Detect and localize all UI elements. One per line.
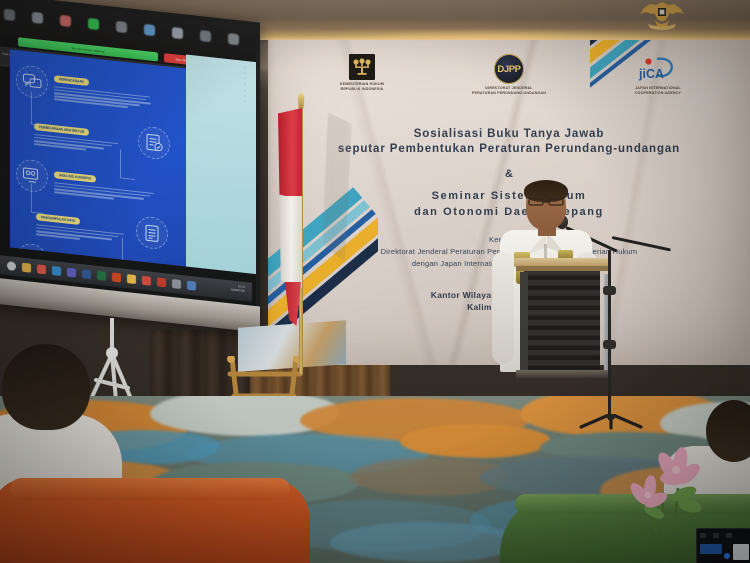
tablet-top-row — [700, 533, 732, 538]
tablet-device[interactable] — [696, 528, 750, 563]
edge-icon[interactable] — [52, 266, 61, 276]
reactions-icon[interactable] — [116, 21, 127, 33]
tablet-content-panel — [700, 544, 722, 554]
projected-desktop: You are screen sharing Stop Share Your m… — [0, 0, 256, 306]
speaker-left-arm — [492, 252, 514, 364]
projection-screen: You are screen sharing Stop Share Your m… — [0, 0, 260, 333]
search-icon[interactable] — [7, 261, 16, 271]
notes-icon[interactable] — [200, 30, 211, 42]
chrome-icon[interactable] — [37, 264, 46, 274]
tablet-app-icon-a[interactable] — [700, 533, 706, 538]
logo-jica: jiCA JAPAN INTERNATIONAL COOPERATION AGE… — [598, 56, 718, 96]
taskbar-clock[interactable]: 10:14 18/06/2025 — [231, 284, 245, 293]
participants-icon[interactable] — [4, 9, 15, 21]
logo-kemenkum-caption: KEMENTERIAN HUKUM REPUBLIK INDONESIA — [302, 82, 422, 92]
djpp-mark: DJPP — [494, 54, 524, 84]
speaker-eyeglasses — [528, 198, 564, 206]
jica-mark: jiCA — [635, 56, 681, 84]
more-icon[interactable] — [228, 33, 239, 45]
logo-kemenkum: KEMENTERIAN HUKUM REPUBLIK INDONESIA — [302, 54, 422, 92]
tablet-white-panel — [733, 544, 749, 560]
excel-icon[interactable] — [97, 271, 106, 281]
podium-top-edge — [516, 266, 608, 271]
microphone-tripod-base — [578, 414, 644, 430]
pink-lily-arrangement — [604, 432, 708, 536]
presentation-slide: PERENCANAAN PEMBICARAAN ARSITEKTUR — [10, 49, 186, 266]
slide-step-3-body — [54, 182, 158, 204]
whiteboard-icon[interactable] — [144, 24, 155, 36]
tablet-app-icon-c[interactable] — [726, 533, 732, 538]
tablet-app-icon-b[interactable] — [713, 533, 719, 538]
slide-step-1-label: PERENCANAAN — [54, 75, 89, 86]
audience-person-left-head — [2, 344, 90, 430]
slide-step-4-label: PENGUMPULAN DATA — [36, 213, 80, 225]
folder-icon[interactable] — [127, 274, 136, 284]
banner-logo-row: KEMENTERIAN HUKUM REPUBLIK INDONESIA DJP… — [268, 54, 750, 114]
list-document-icon — [136, 215, 168, 250]
slide-connector-2 — [120, 149, 135, 180]
indonesian-flag-red-band — [278, 108, 302, 200]
tablet-status-dot — [724, 553, 730, 559]
podium-front-panel — [524, 270, 600, 376]
garuda-pancasila-emblem — [630, 0, 694, 34]
podium — [520, 258, 604, 376]
slide-right-scroll-column: ▪▪▪▪▪▪▪ — [237, 64, 253, 266]
logo-jica-caption: JAPAN INTERNATIONAL COOPERATION AGENCY — [598, 86, 718, 96]
teams-icon[interactable] — [67, 268, 76, 278]
orange-armchair-backrest — [10, 478, 290, 500]
indonesian-flag-white-band — [278, 196, 302, 288]
slide-connector-4 — [122, 238, 135, 264]
document-check-icon — [138, 125, 170, 160]
media-icon[interactable] — [157, 277, 166, 287]
slide-step-1-body — [54, 86, 154, 111]
microphone-stand-clamp-lower — [603, 340, 616, 349]
file-explorer-icon[interactable] — [22, 263, 31, 273]
photo-scene: KEMENTERIAN HUKUM REPUBLIK INDONESIA DJP… — [0, 0, 750, 563]
settings-icon[interactable] — [172, 279, 181, 289]
podium-side-panel — [520, 272, 528, 376]
zoom-icon[interactable] — [142, 276, 151, 286]
scales-of-justice-mark — [349, 54, 375, 80]
slide-connector-1 — [31, 92, 42, 126]
logo-djpp-caption: DIREKTORAT JENDERAL PERATURAN PERUNDANG-… — [449, 86, 569, 96]
slide-connector-3 — [31, 184, 44, 214]
powerpoint-icon[interactable] — [112, 272, 121, 282]
microphone-stand-clamp-upper — [603, 286, 616, 295]
clock-date: 18/06/2025 — [231, 287, 245, 293]
podium-base — [516, 370, 608, 378]
share-screen-icon[interactable] — [88, 18, 99, 30]
apps-icon[interactable] — [172, 27, 183, 39]
record-icon[interactable] — [60, 15, 71, 27]
logo-djpp: DJPP DIREKTORAT JENDERAL PERATURAN PERUN… — [449, 54, 569, 96]
svg-text:jiCA: jiCA — [638, 67, 664, 81]
word-icon[interactable] — [82, 269, 91, 279]
mail-icon[interactable] — [187, 281, 196, 291]
scroll-marks: ▪▪▪▪▪▪▪ — [237, 64, 253, 106]
microphone-stand-pole — [608, 250, 611, 420]
slide-step-4-body — [36, 224, 136, 245]
slide-step-3-label: ANALISIS KONSEPSI — [54, 171, 96, 183]
slide-step-2-label: PEMBICARAAN ARSITEKTUR — [34, 123, 89, 136]
chat-icon[interactable] — [32, 12, 43, 24]
